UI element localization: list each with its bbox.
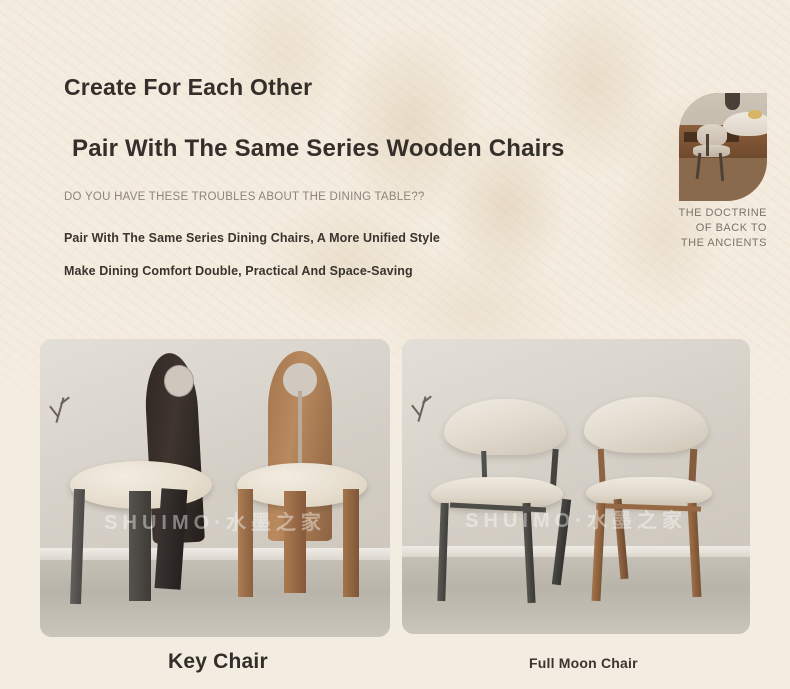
key-chair-walnut-back-slit <box>298 391 302 473</box>
product-promo-page: Create For Each Other Pair With The Same… <box>0 0 790 689</box>
headline-primary: Create For Each Other <box>64 74 312 101</box>
scene-baseboard <box>40 548 390 560</box>
doctrine-caption-line-3: THE ANCIENTS <box>655 236 767 251</box>
doctrine-thumbnail[interactable] <box>679 93 767 201</box>
key-chair-scene: SHUIMO·水墨之家 <box>40 339 390 637</box>
thumb-chair-back <box>697 124 727 146</box>
product-card-key-chair[interactable]: SHUIMO·水墨之家 <box>40 339 390 637</box>
product-label-full-moon-chair: Full Moon Chair <box>529 655 638 671</box>
hero-kicker-text: DO YOU HAVE THESE TROUBLES ABOUT THE DIN… <box>64 191 425 203</box>
scene-floor <box>40 560 390 637</box>
decorative-twig <box>47 393 73 439</box>
doctrine-caption-line-1: THE DOCTRINE <box>655 206 767 221</box>
scene-wall <box>402 339 750 557</box>
doctrine-caption-line-2: OF BACK TO <box>655 221 767 236</box>
thumb-chair-leg-support <box>706 134 709 156</box>
hero-bullet-1: Pair With The Same Series Dining Chairs,… <box>64 231 440 245</box>
key-chair-walnut-leg-left <box>238 489 253 597</box>
doctrine-thumbnail-image <box>679 93 767 201</box>
decorative-twig <box>409 392 435 438</box>
scene-wall <box>40 339 390 560</box>
full-moon-chair-scene: SHUIMO·水墨之家 <box>402 339 750 634</box>
product-label-key-chair: Key Chair <box>168 650 268 674</box>
key-chair-walnut-leg-center <box>284 491 306 593</box>
key-chair-dark-keyhole <box>164 365 194 397</box>
thumb-pendant-lamp <box>725 93 740 110</box>
thumb-fruit-bowl <box>748 110 762 119</box>
headline-secondary: Pair With The Same Series Wooden Chairs <box>72 135 565 163</box>
key-chair-dark-leg-center <box>129 491 151 601</box>
product-card-full-moon-chair[interactable]: SHUIMO·水墨之家 <box>402 339 750 634</box>
doctrine-caption: THE DOCTRINE OF BACK TO THE ANCIENTS <box>655 206 767 251</box>
key-chair-walnut-leg-right <box>343 489 359 597</box>
hero-bullet-2: Make Dining Comfort Double, Practical An… <box>64 264 413 278</box>
